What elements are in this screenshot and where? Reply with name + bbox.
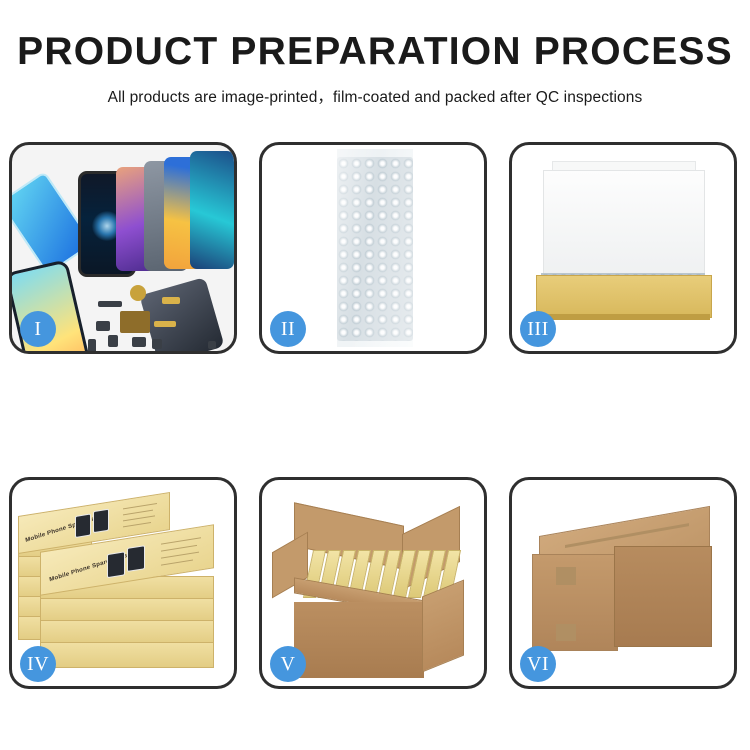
box-screen-image-front-1 [107, 551, 125, 578]
page-header: PRODUCT PREPARATION PROCESS All products… [0, 0, 750, 107]
step-badge-4: IV [20, 646, 56, 682]
box-screen-image-back-1 [75, 513, 91, 538]
carton-front-face [294, 602, 424, 678]
phone-teal [190, 151, 234, 269]
box-spec-line-f2 [161, 545, 197, 552]
box-lid-white [543, 170, 705, 283]
carton-right-face [614, 546, 711, 647]
part-screw-set [208, 341, 216, 349]
step-cell-5: V [250, 463, 500, 706]
step-cell-2: II [250, 128, 500, 371]
bubble-wrap-sheet [337, 149, 412, 347]
box-spec-line-f1 [161, 537, 201, 544]
part-logic-board [120, 311, 150, 333]
part-speaker [132, 337, 146, 347]
box-spec-line-b3 [123, 515, 155, 521]
page-title: PRODUCT PREPARATION PROCESS [0, 0, 750, 71]
box-spec-line-f4 [161, 560, 193, 566]
step-cell-4: Mobile Phone Spare Parts Mobile Phone Sp… [0, 463, 250, 706]
box-spec-line-f3 [161, 552, 199, 559]
step-badge-2: II [270, 311, 306, 347]
stacked-box-front-2 [40, 598, 214, 622]
step-panel-2[interactable]: II [259, 142, 487, 354]
box-screen-image-front-2 [127, 545, 145, 572]
step-badge-5: V [270, 646, 306, 682]
step-cell-3: III [500, 128, 750, 371]
box-body-kraft [536, 275, 711, 318]
step-cell-1: I [0, 128, 250, 371]
step-panel-5[interactable]: V [259, 477, 487, 689]
carton-side-face [422, 580, 464, 673]
step-badge-1: I [20, 311, 56, 347]
step-panel-6[interactable]: VI [509, 477, 737, 689]
box-spec-line-b4 [123, 522, 151, 527]
step-badge-6: VI [520, 646, 556, 682]
step-panel-4[interactable]: Mobile Phone Spare Parts Mobile Phone Sp… [9, 477, 237, 689]
process-grid: I II III [0, 128, 750, 706]
box-spec-line-b1 [123, 503, 157, 509]
part-strip [98, 301, 122, 307]
step-cell-6: VI [500, 463, 750, 706]
carton-tape-tab-upper [556, 567, 576, 586]
part-connector-a [96, 321, 110, 331]
part-connector-b [108, 335, 118, 347]
stacked-box-front-4 [40, 642, 214, 668]
carton-tape-tab-lower [556, 624, 576, 640]
box-screen-image-back-2 [93, 509, 109, 534]
box-spec-line-b2 [123, 510, 153, 516]
step-panel-1[interactable]: I [9, 142, 237, 354]
step-panel-3[interactable]: III [509, 142, 737, 354]
part-sim-tray [88, 339, 96, 353]
box-label-back: Mobile Phone Spare Parts [25, 513, 104, 543]
stacked-box-front-3 [40, 620, 214, 644]
part-camera-ring [130, 285, 146, 301]
part-flex-cable-b [154, 321, 176, 327]
part-vibrator [152, 339, 162, 349]
page-subtitle: All products are image-printed，film-coat… [0, 71, 750, 107]
box-front-edge [536, 314, 709, 320]
step-badge-3: III [520, 311, 556, 347]
part-flex-cable-a [162, 297, 180, 304]
plastic-sheen [337, 149, 412, 347]
